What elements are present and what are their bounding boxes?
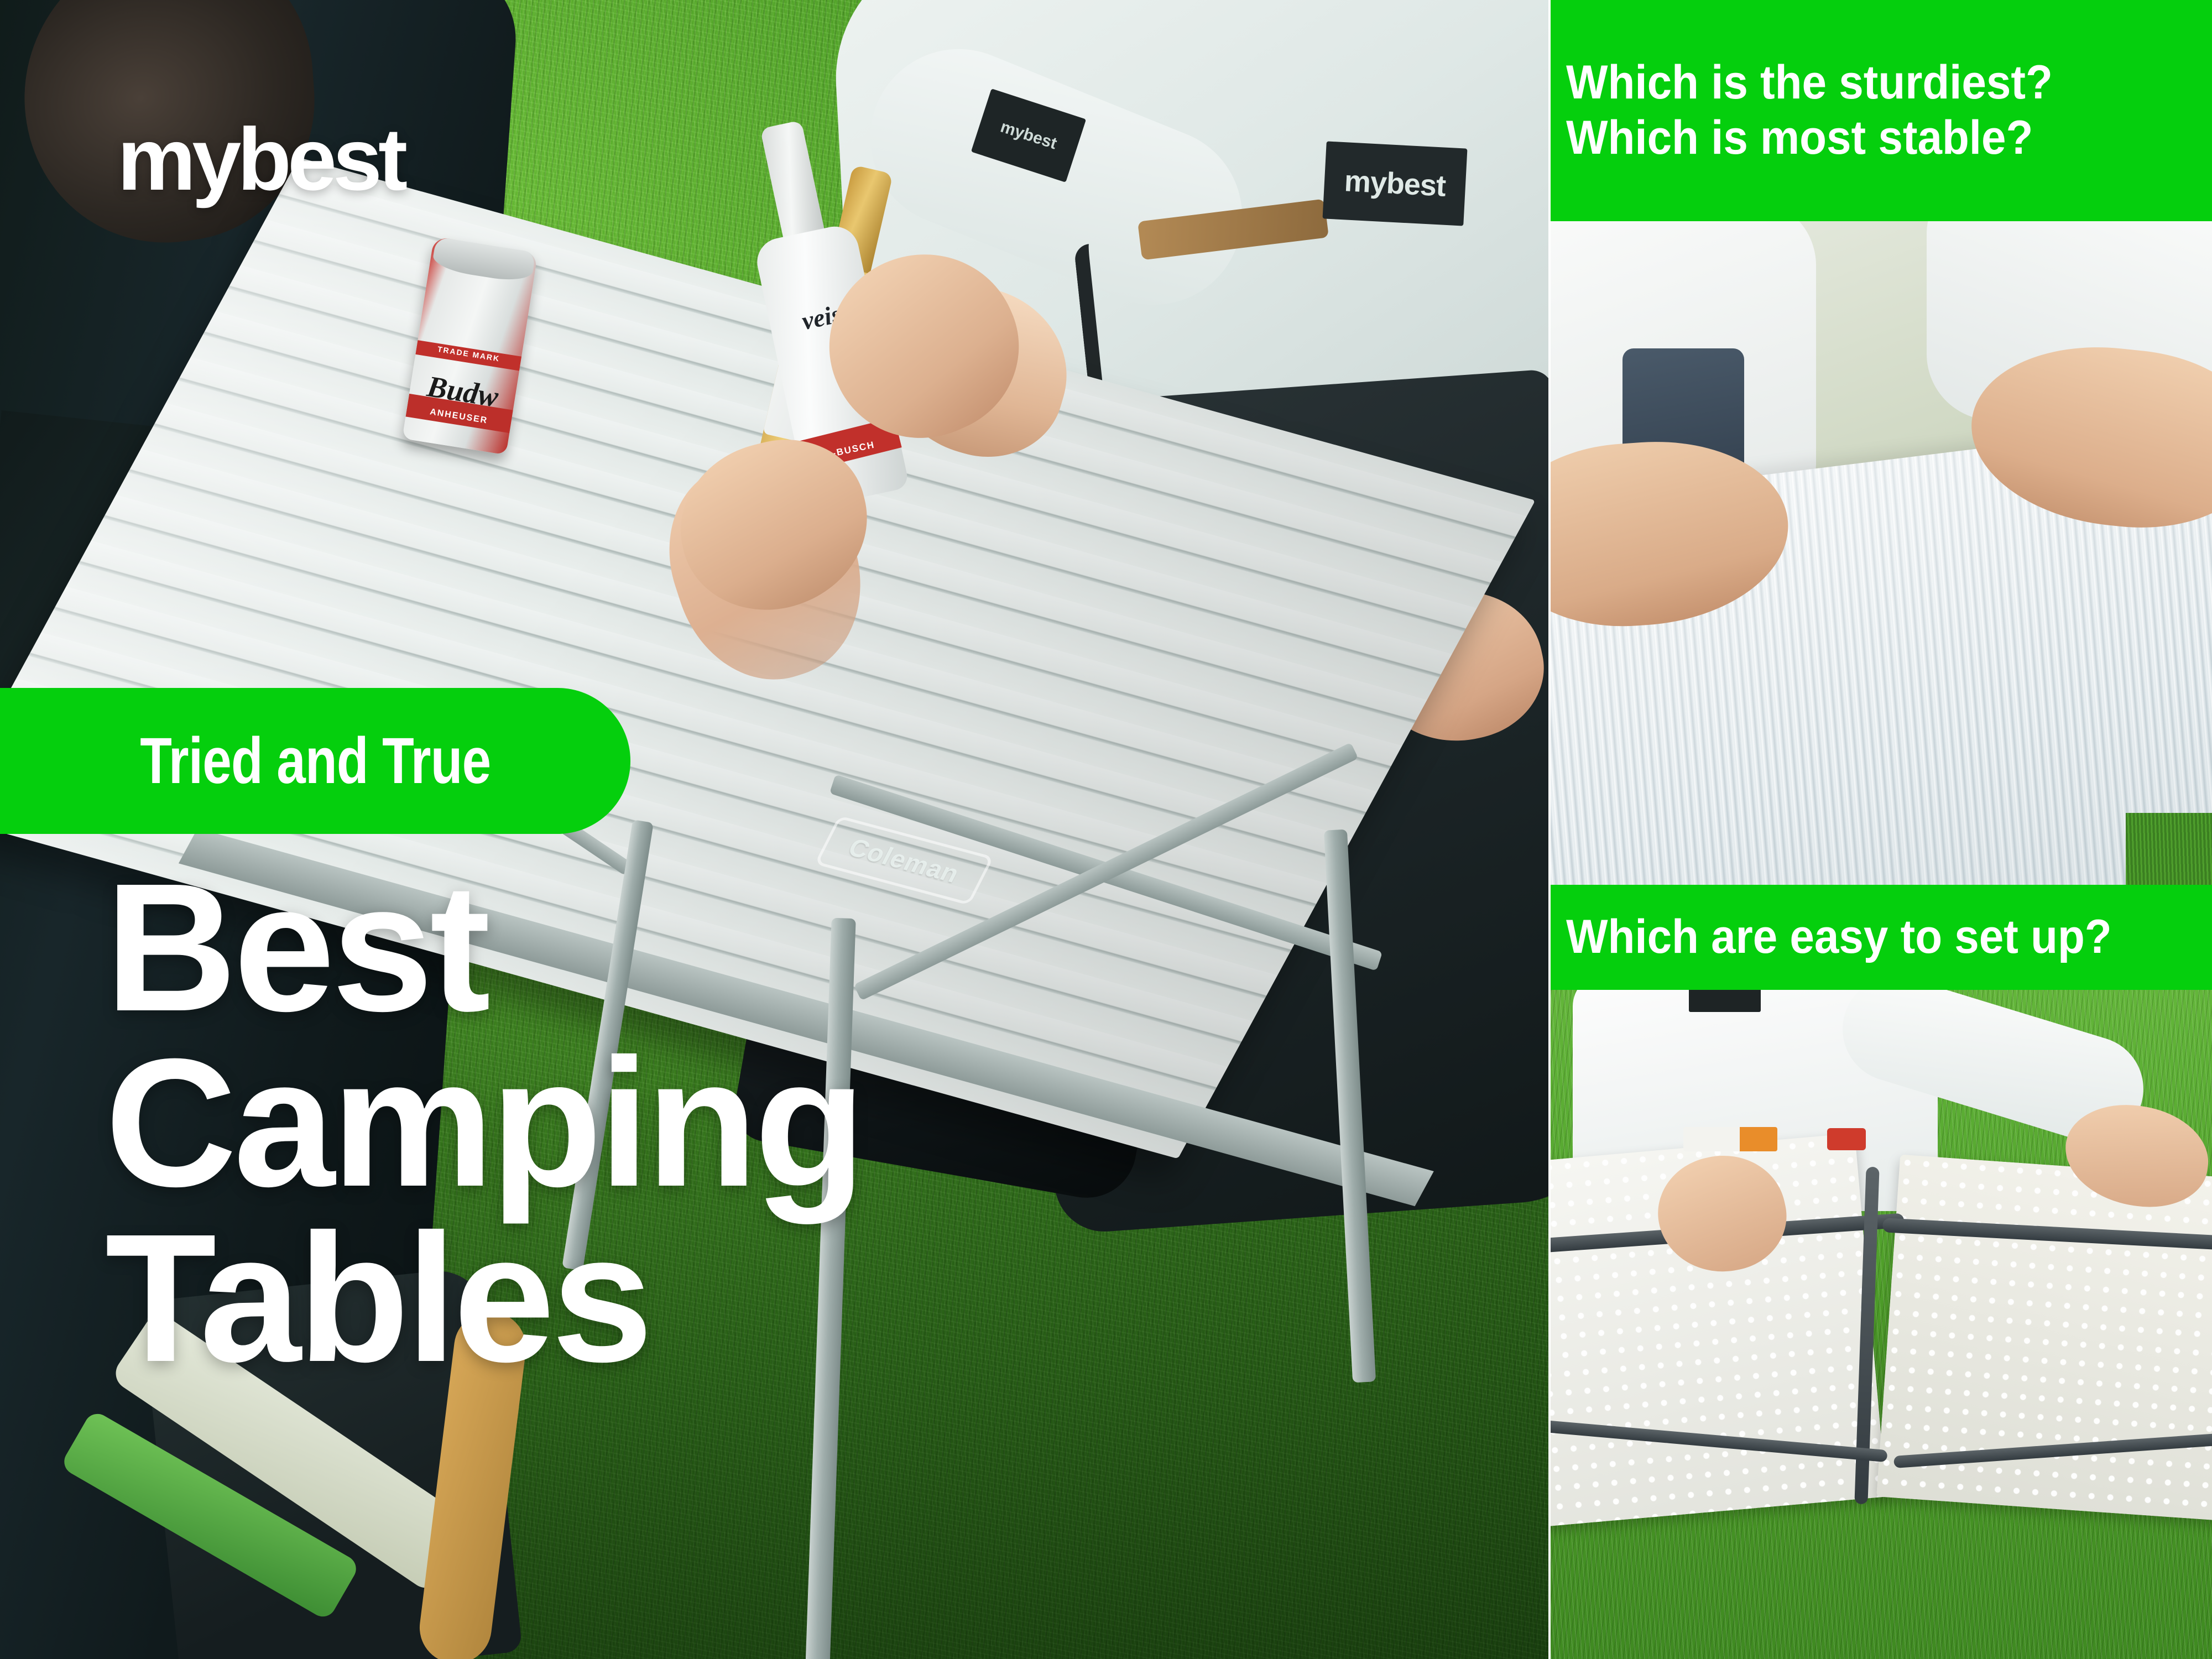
grass-strip [2126, 813, 2212, 885]
photo-sturdiness-test [1551, 221, 2212, 885]
chest-logo-text: mybest [1343, 164, 1446, 203]
red-locking-clip [1827, 1128, 1866, 1150]
chest-logo-patch: mybest [1323, 141, 1468, 226]
photo-setup-test [1551, 990, 2212, 1659]
question-band-sturdiness: Which is the sturdiest? Which is most st… [1551, 0, 2212, 221]
folding-table-panel-right [1876, 1155, 2212, 1522]
sleeve-logo-text: mybest [998, 118, 1059, 154]
warning-sticker [1683, 1127, 1777, 1151]
tried-and-true-badge: Tried and True [0, 688, 630, 834]
hero-photo-camping-scene: mybest mybest Coleman TRADE MARK Budw AN… [0, 0, 1548, 1659]
title-line-2: Camping [105, 1035, 863, 1211]
question-band-setup: Which are easy to set up? [1551, 885, 2212, 990]
question-most-stable: Which is most stable? [1566, 111, 2152, 166]
title-line-1: Best [105, 860, 863, 1035]
mybest-logo: mybest [117, 115, 404, 204]
tried-and-true-label: Tried and True [140, 723, 491, 799]
title-line-3: Tables [105, 1211, 863, 1386]
tester-chest-logo [1689, 990, 1761, 1012]
question-sturdiest: Which is the sturdiest? [1566, 55, 2152, 111]
page-title: Best Camping Tables [105, 860, 863, 1385]
question-easy-setup: Which are easy to set up? [1566, 910, 2152, 965]
right-column: Which is the sturdiest? Which is most st… [1551, 0, 2212, 1659]
poster-root: mybest mybest Coleman TRADE MARK Budw AN… [0, 0, 2212, 1659]
